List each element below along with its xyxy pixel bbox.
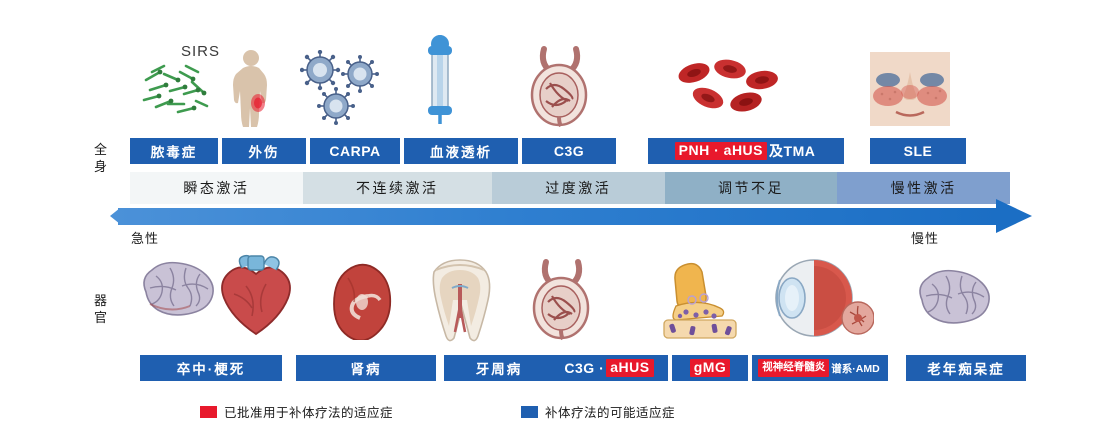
red-blood-cells-icon [672, 58, 782, 118]
indication-pnh-ahus-label: PNH · aHUS [675, 142, 767, 160]
heart-icon [212, 252, 300, 340]
legend-approved-label: 已批准用于补体疗法的适应症 [224, 402, 393, 421]
axis-label-organ: 器 官 [84, 292, 118, 326]
indication-c3g-top[interactable]: C3G [522, 138, 616, 164]
activation-band-row: 瞬态激活 不连续激活 过度激活 调节不足 慢性激活 [130, 172, 1010, 204]
band-chronic-activation: 慢性激活 [837, 172, 1010, 204]
axis-label-organ-char-2: 官 [84, 309, 118, 326]
indication-alzheimers-label: 老年痴呆症 [927, 358, 1005, 378]
bacteria-icon [140, 60, 210, 120]
indication-periodontitis[interactable]: 牙周病 [444, 355, 554, 381]
brain-icon-left [136, 258, 222, 320]
indication-hemodialysis[interactable]: 血液透析 [404, 138, 518, 164]
indication-carpa[interactable]: CARPA [310, 138, 400, 164]
indication-tma-label: 及TMA [767, 141, 817, 161]
legend: 已批准用于补体疗法的适应症 补体疗法的可能适应症 [200, 402, 800, 422]
indication-trauma-label: 外伤 [249, 141, 280, 161]
legend-swatch-approved-icon [200, 406, 217, 418]
band-excessive-activation: 过度激活 [492, 172, 665, 204]
indication-amd-label: 谱系·AMD [829, 361, 881, 376]
indication-periodontitis-label: 牙周病 [476, 358, 523, 378]
indication-carpa-label: CARPA [329, 143, 380, 159]
arrow-label-acute: 急性 [131, 228, 159, 247]
band-discontinuous-activation-label: 不连续激活 [356, 178, 439, 198]
indication-nmosd-amd[interactable]: 视神经脊髓炎 谱系·AMD [752, 355, 888, 381]
legend-item-potential: 补体疗法的可能适应症 [521, 402, 675, 421]
axis-label-systemic-char-1: 全 [84, 141, 118, 158]
indication-trauma[interactable]: 外伤 [222, 138, 306, 164]
glomerulus-icon-bottom [522, 258, 600, 342]
band-excessive-activation-label: 过度激活 [545, 178, 611, 198]
legend-swatch-potential-icon [521, 406, 538, 418]
neuromuscular-junction-icon [650, 262, 750, 344]
diagram-canvas: 全 身 器 官 SIRS [0, 0, 1108, 448]
indication-hemodialysis-label: 血液透析 [430, 141, 492, 161]
brain-icon-right [912, 266, 996, 328]
glomerulus-icon-top [520, 45, 598, 127]
arrow-head-icon [996, 199, 1032, 233]
indication-nephropathy[interactable]: 肾病 [296, 355, 436, 381]
axis-label-systemic-char-2: 身 [84, 158, 118, 175]
arrow-label-chronic: 慢性 [911, 228, 939, 247]
indication-c3g-top-label: C3G [554, 143, 584, 159]
indication-gmg[interactable]: gMG [672, 355, 748, 381]
indication-pnh-ahus-tma[interactable]: PNH · aHUS 及TMA [648, 138, 844, 164]
lupus-butterfly-rash-face-icon [870, 52, 950, 126]
band-insufficient-regulation-label: 调节不足 [718, 178, 784, 198]
band-discontinuous-activation: 不连续激活 [303, 172, 492, 204]
indication-stroke-infarction[interactable]: 卒中·梗死 [140, 355, 282, 381]
indication-nephropathy-label: 肾病 [351, 358, 382, 378]
kidney-icon [318, 262, 394, 340]
indication-nmosd-label: 视神经脊髓炎 [758, 359, 829, 377]
indication-ahus-label: aHUS [606, 359, 653, 377]
human-body-figure-icon [228, 48, 274, 128]
indication-sle[interactable]: SLE [870, 138, 966, 164]
indication-c3g-bottom-label: C3G · [562, 360, 606, 376]
indication-stroke-infarction-label: 卒中·梗死 [177, 358, 246, 378]
axis-label-systemic: 全 身 [84, 141, 118, 175]
dialysis-apparatus-icon [415, 32, 465, 128]
indication-sepsis-label: 脓毒症 [151, 141, 198, 161]
virus-particles-icon [300, 50, 384, 126]
legend-item-approved: 已批准用于补体疗法的适应症 [200, 402, 393, 421]
acute-to-chronic-arrow [118, 208, 998, 225]
sirs-caption: SIRS [181, 43, 220, 60]
tooth-cross-section-icon [422, 254, 498, 342]
eye-anatomy-icon [766, 256, 874, 342]
axis-label-organ-char-1: 器 [84, 292, 118, 309]
indication-alzheimers[interactable]: 老年痴呆症 [906, 355, 1026, 381]
indication-sepsis[interactable]: 脓毒症 [130, 138, 218, 164]
indication-sle-label: SLE [904, 143, 933, 159]
band-insufficient-regulation: 调节不足 [665, 172, 838, 204]
legend-potential-label: 补体疗法的可能适应症 [545, 402, 675, 421]
indication-gmg-label: gMG [690, 359, 731, 377]
indication-c3g-ahus[interactable]: C3G · aHUS [548, 355, 668, 381]
band-chronic-activation-label: 慢性激活 [891, 178, 957, 198]
band-transient-activation: 瞬态激活 [130, 172, 303, 204]
band-transient-activation-label: 瞬态激活 [183, 178, 249, 198]
